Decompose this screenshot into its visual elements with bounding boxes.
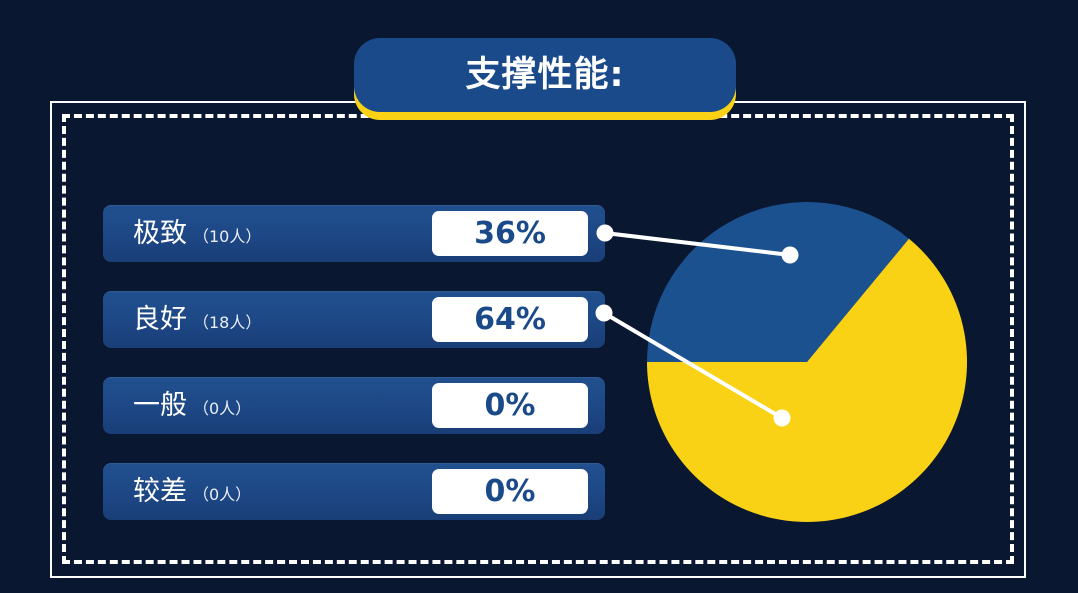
bar-label-group: 极致 （10人）	[133, 220, 261, 247]
list-item: 极致 （10人） 36%	[103, 205, 605, 262]
infographic-canvas: 支撑性能: 极致 （10人） 36% 良好 （18人） 64% 一般	[0, 0, 1078, 593]
bar-label-group: 良好 （18人）	[133, 306, 261, 333]
bar-value-text: 64%	[474, 305, 546, 335]
bar-label-main: 较差	[133, 478, 187, 505]
metric-bar-list: 极致 （10人） 36% 良好 （18人） 64% 一般 （0人） 0%	[103, 205, 605, 549]
bar-value-text: 0%	[485, 391, 536, 421]
bar-label-group: 较差 （0人）	[133, 478, 251, 505]
bar-value-box: 64%	[432, 297, 588, 342]
bar-label-main: 极致	[133, 220, 187, 247]
bar-value-text: 0%	[485, 477, 536, 507]
list-item: 良好 （18人） 64%	[103, 291, 605, 348]
bar-label-count: （0人）	[193, 401, 251, 417]
bar-value-box: 0%	[432, 383, 588, 428]
bar-label-main: 一般	[133, 392, 187, 419]
bar-value-text: 36%	[474, 219, 546, 249]
list-item: 一般 （0人） 0%	[103, 377, 605, 434]
bar-label-group: 一般 （0人）	[133, 392, 251, 419]
list-item: 较差 （0人） 0%	[103, 463, 605, 520]
bar-value-box: 0%	[432, 469, 588, 514]
bar-value-box: 36%	[432, 211, 588, 256]
bar-label-main: 良好	[133, 306, 187, 333]
bar-label-count: （0人）	[193, 487, 251, 503]
title-text: 支撑性能:	[466, 58, 625, 93]
title-pill: 支撑性能:	[354, 38, 736, 112]
bar-label-count: （10人）	[193, 229, 261, 245]
bar-label-count: （18人）	[193, 315, 261, 331]
page-title: 支撑性能:	[354, 38, 736, 120]
